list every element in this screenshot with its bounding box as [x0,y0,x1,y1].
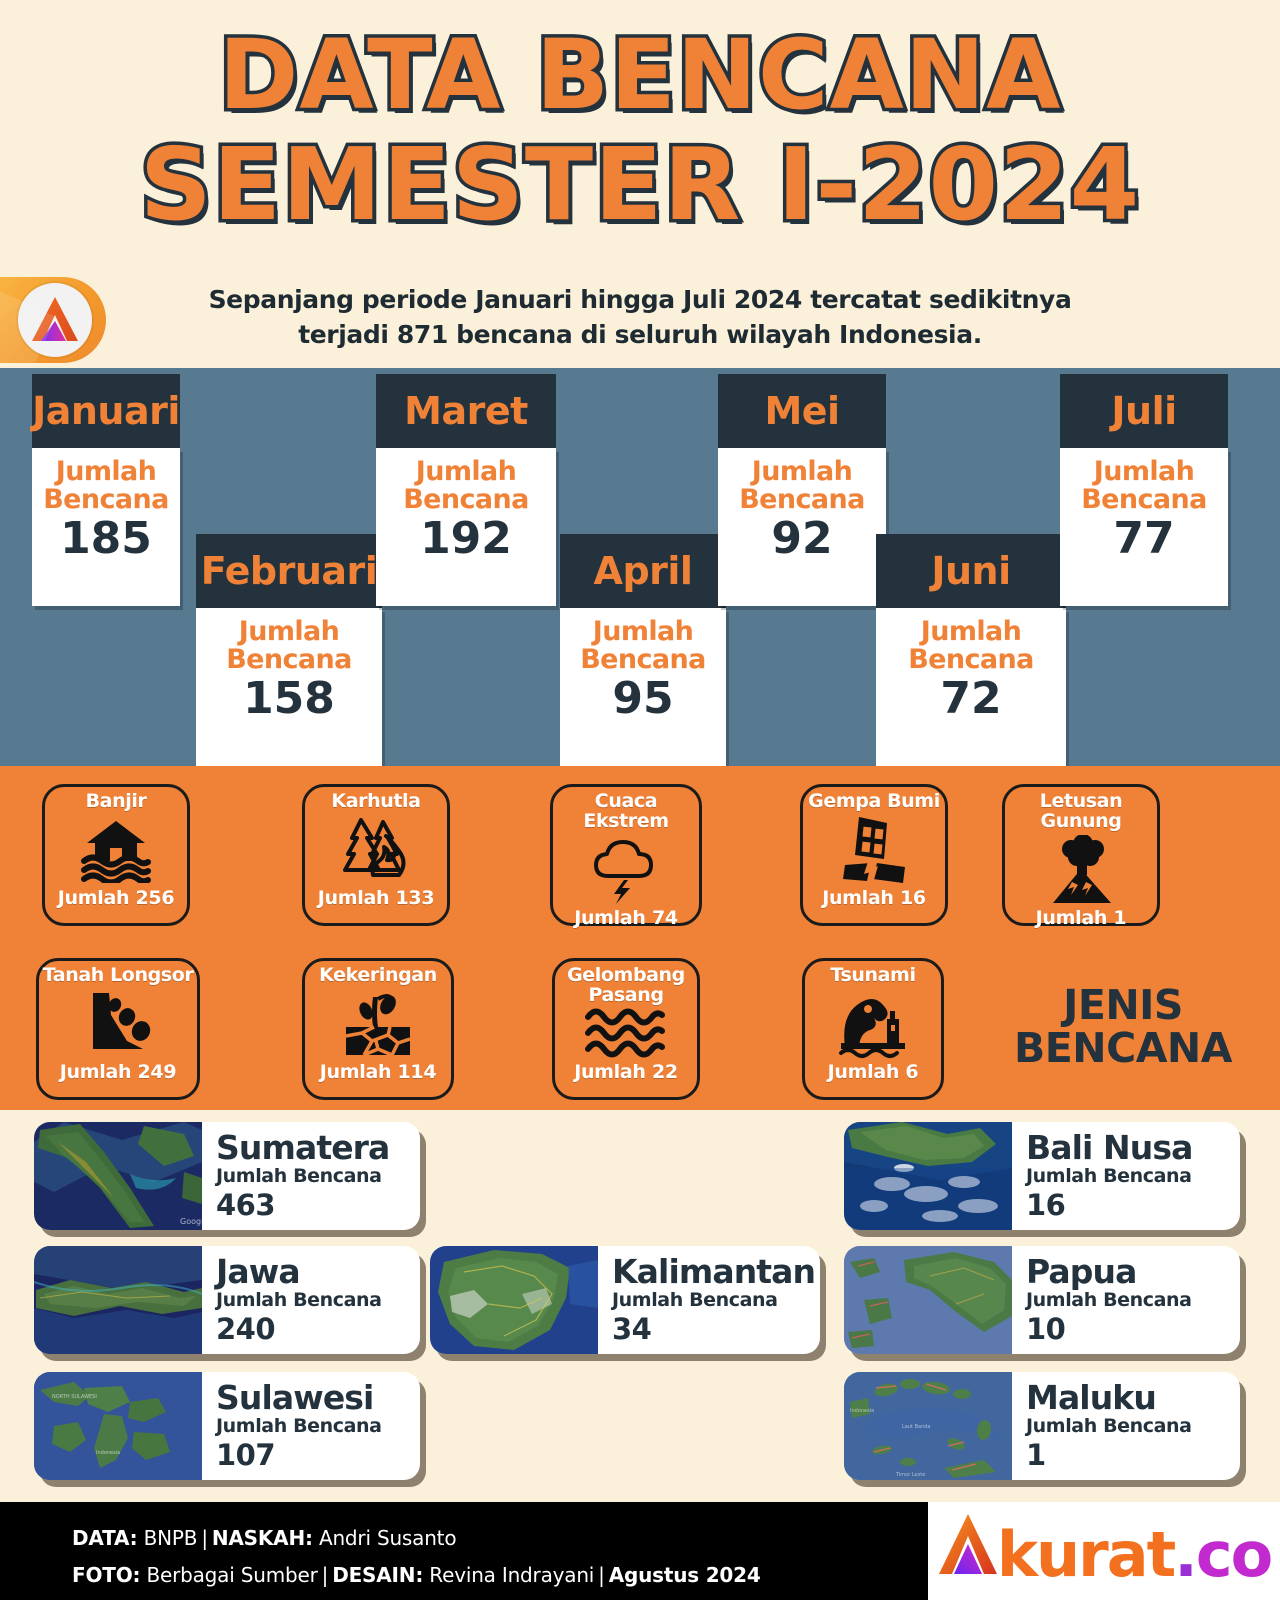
tidal-waves-icon [555,1001,697,1063]
footer-foto-key: FOTO: [72,1563,140,1587]
volcano-eruption-icon [1005,831,1157,909]
month-body: Jumlah Bencana 77 [1060,448,1228,606]
region-count-value: 240 [216,1314,420,1346]
disaster-type-gelombang-pasang[interactable]: Gelombang Pasang Jumlah 22 [552,958,700,1100]
kalimantan-map-thumbnail [430,1246,598,1354]
month-name: Januari [32,374,180,448]
region-card-sulawesi[interactable]: NORTH SULAWESI Indonesia Sulawesi Jumlah… [34,1372,420,1480]
region-count-value: 16 [1026,1190,1240,1222]
flooded-house-icon [45,811,187,889]
region-count-label: Jumlah Bencana [1026,1288,1240,1314]
title-line-2: SEMESTER I-2024 [0,136,1280,234]
region-name: Sumatera [216,1131,420,1164]
disaster-type-count: Jumlah 114 [305,1063,451,1082]
disaster-types-section-title: JENIS BENCANA [988,984,1258,1071]
region-count-label: Jumlah Bencana [216,1288,420,1314]
month-card-april[interactable]: April Jumlah Bencana 95 [560,534,726,766]
footer-credits: DATA: BNPB|NASKAH: Andri Susanto FOTO: B… [72,1520,761,1594]
region-count-value: 10 [1026,1314,1240,1346]
region-text: Bali Nusa Jumlah Bencana 16 [1012,1122,1240,1230]
month-card-juli[interactable]: Juli Jumlah Bencana 77 [1060,374,1228,606]
region-text: Jawa Jumlah Bencana 240 [202,1246,420,1354]
month-body: Jumlah Bencana 95 [560,608,726,766]
month-count-value: 72 [876,676,1066,722]
region-name: Papua [1026,1255,1240,1288]
month-card-juni[interactable]: Juni Jumlah Bencana 72 [876,534,1066,766]
footer-date: Agustus 2024 [609,1563,761,1587]
bali-nusa-map-thumbnail [844,1122,1012,1230]
region-name: Bali Nusa [1026,1131,1240,1164]
month-count-label: Jumlah Bencana [32,458,180,514]
month-count-value: 92 [718,516,886,562]
disaster-type-banjir[interactable]: Banjir Jumlah 256 [42,784,190,926]
sulawesi-map-thumbnail: NORTH SULAWESI Indonesia [34,1372,202,1480]
header: DATA BENCANA SEMESTER I-2024 Sepanjang p… [0,0,1280,368]
disaster-type-count: Jumlah 16 [803,889,945,908]
footer-line-1: DATA: BNPB|NASKAH: Andri Susanto [72,1520,761,1557]
akurat-logo-badge [0,277,106,363]
region-name: Kalimantan [612,1255,820,1288]
region-count-label: Jumlah Bencana [1026,1164,1240,1190]
footer-data-value: BNPB [144,1526,198,1550]
tsunami-wave-icon [805,985,941,1063]
page-title: DATA BENCANA SEMESTER I-2024 [0,28,1280,234]
footer-desain-value: Revina Indrayani [429,1563,594,1587]
disaster-type-name: Gelombang Pasang [555,965,697,1005]
brand-dot: . [1174,1518,1196,1591]
svg-text:Indonesia: Indonesia [96,1450,120,1456]
region-text: Papua Jumlah Bencana 10 [1012,1246,1240,1354]
region-name: Maluku [1026,1381,1240,1414]
month-name: Juni [876,534,1066,608]
footer-naskah-value: Andri Susanto [319,1526,456,1550]
region-count-label: Jumlah Bencana [612,1288,820,1314]
region-name: Jawa [216,1255,420,1288]
regions-section: WILAYAH TERJADI BENCANA Google [0,1110,1280,1500]
footer-foto-value: Berbagai Sumber [146,1563,317,1587]
region-card-jawa[interactable]: Jawa Jumlah Bencana 240 [34,1246,420,1354]
cracked-building-icon [803,811,945,889]
region-card-maluku[interactable]: Indonesia Laut Banda Timor Leste Maluku … [844,1372,1240,1480]
disaster-type-count: Jumlah 249 [39,1063,197,1082]
svg-text:Indonesia: Indonesia [850,1408,874,1414]
months-band: Januari Jumlah Bencana 185 Februari Juml… [0,368,1280,766]
disaster-type-tsunami[interactable]: Tsunami Jumlah 6 [802,958,944,1100]
disaster-type-gempa-bumi[interactable]: Gempa Bumi Jumlah 16 [800,784,948,926]
region-text: Sumatera Jumlah Bencana 463 [202,1122,420,1230]
disaster-type-kekeringan[interactable]: Kekeringan [302,958,454,1100]
disaster-type-name: Tsunami [805,965,941,985]
svg-text:Laut Banda: Laut Banda [902,1424,930,1430]
month-count-label: Jumlah Bencana [1060,458,1228,514]
month-card-januari[interactable]: Januari Jumlah Bencana 185 [32,374,180,606]
disaster-type-karhutla[interactable]: Karhutla Jumlah 133 [302,784,450,926]
region-card-bali-nusa[interactable]: Bali Nusa Jumlah Bencana 16 [844,1122,1240,1230]
disaster-type-name: Cuaca Ekstrem [553,791,699,831]
footer-data-key: DATA: [72,1526,137,1550]
types-title-line-2: BENCANA [988,1027,1258,1070]
disaster-type-name: Banjir [45,791,187,811]
disaster-type-name: Gempa Bumi [803,791,945,811]
month-count-value: 95 [560,676,726,722]
maluku-map-thumbnail: Indonesia Laut Banda Timor Leste [844,1372,1012,1480]
month-name: Maret [376,374,556,448]
region-card-papua[interactable]: Papua Jumlah Bencana 10 [844,1246,1240,1354]
disaster-type-count: Jumlah 1 [1005,909,1157,928]
disaster-type-count: Jumlah 133 [305,889,447,908]
region-count-value: 463 [216,1190,420,1222]
month-count-value: 77 [1060,516,1228,562]
disaster-types-band: Banjir Jumlah 256 Karhutla [0,766,1280,1110]
sumatera-map-thumbnail: Google [34,1122,202,1230]
disaster-type-name: Tanah Longsor [39,965,197,985]
svg-text:Google: Google [180,1217,202,1226]
drought-cracked-soil-icon [305,985,451,1063]
month-count-label: Jumlah Bencana [560,618,726,674]
region-text: Maluku Jumlah Bencana 1 [1012,1372,1240,1480]
papua-map-thumbnail [844,1246,1012,1354]
region-count-value: 1 [1026,1440,1240,1472]
month-count-label: Jumlah Bencana [196,618,382,674]
month-card-mei[interactable]: Mei Jumlah Bencana 92 [718,374,886,606]
month-count-label: Jumlah Bencana [376,458,556,514]
akurat-logo-icon [18,283,92,357]
region-count-label: Jumlah Bencana [216,1414,420,1440]
types-title-line-1: JENIS [988,984,1258,1027]
region-count-label: Jumlah Bencana [1026,1414,1240,1440]
disaster-type-tanah-longsor[interactable]: Tanah Longsor Jumlah 249 [36,958,200,1100]
month-count-label: Jumlah Bencana [718,458,886,514]
region-count-value: 34 [612,1314,820,1346]
month-count-label: Jumlah Bencana [876,618,1066,674]
disaster-type-count: Jumlah 256 [45,889,187,908]
forest-fire-icon [305,811,447,889]
region-count-label: Jumlah Bencana [216,1164,420,1190]
storm-cloud-lightning-icon [553,831,699,909]
infographic-page: DATA BENCANA SEMESTER I-2024 Sepanjang p… [0,0,1280,1600]
month-body: Jumlah Bencana 185 [32,448,180,606]
region-text: Kalimantan Jumlah Bencana 34 [598,1246,820,1354]
disaster-type-name: Letusan Gunung [1005,791,1157,831]
brand-wordmark: kurat.co [937,1512,1271,1591]
brand-co-text: co [1196,1518,1271,1591]
footer-desain-key: DESAIN: [332,1563,423,1587]
month-body: Jumlah Bencana 92 [718,448,886,606]
region-card-kalimantan[interactable]: Kalimantan Jumlah Bencana 34 [430,1246,820,1354]
footer-naskah-key: NASKAH: [212,1526,313,1550]
disaster-type-count: Jumlah 6 [805,1063,941,1082]
svg-text:Timor Leste: Timor Leste [895,1472,925,1478]
region-count-value: 107 [216,1440,420,1472]
disaster-type-letusan-gunung[interactable]: Letusan Gunung Jumlah 1 [1002,784,1160,926]
month-body: Jumlah Bencana 158 [196,608,382,766]
disaster-type-count: Jumlah 22 [555,1063,697,1082]
region-card-sumatera[interactable]: Google Sumatera Jumlah Bencana 463 [34,1122,420,1230]
disaster-type-count: Jumlah 74 [553,909,699,928]
title-line-1: DATA BENCANA [0,28,1280,122]
month-name: Februari [196,534,382,608]
month-count-value: 158 [196,676,382,722]
subtitle: Sepanjang periode Januari hingga Juli 20… [180,283,1100,352]
month-name: April [560,534,726,608]
month-body: Jumlah Bencana 192 [376,448,556,606]
landslide-icon [39,985,197,1063]
month-count-value: 185 [32,516,180,562]
brand-kurat-text: kurat [997,1518,1174,1591]
month-body: Jumlah Bencana 72 [876,608,1066,766]
month-card-maret[interactable]: Maret Jumlah Bencana 192 [376,374,556,606]
month-count-value: 192 [376,516,556,562]
month-name: Juli [1060,374,1228,448]
footer-line-2: FOTO: Berbagai Sumber|DESAIN: Revina Ind… [72,1557,761,1594]
jawa-map-thumbnail [34,1246,202,1354]
akurat-a-icon [937,1512,999,1576]
month-name: Mei [718,374,886,448]
region-name: Sulawesi [216,1381,420,1414]
disaster-type-name: Karhutla [305,791,447,811]
disaster-type-name: Kekeringan [305,965,451,985]
svg-text:NORTH SULAWESI: NORTH SULAWESI [52,1394,97,1400]
akurat-brand-logo: kurat.co [928,1502,1280,1600]
region-text: Sulawesi Jumlah Bencana 107 [202,1372,420,1480]
disaster-type-cuaca-ekstrem[interactable]: Cuaca Ekstrem Jumlah 74 [550,784,702,926]
month-card-februari[interactable]: Februari Jumlah Bencana 158 [196,534,382,766]
